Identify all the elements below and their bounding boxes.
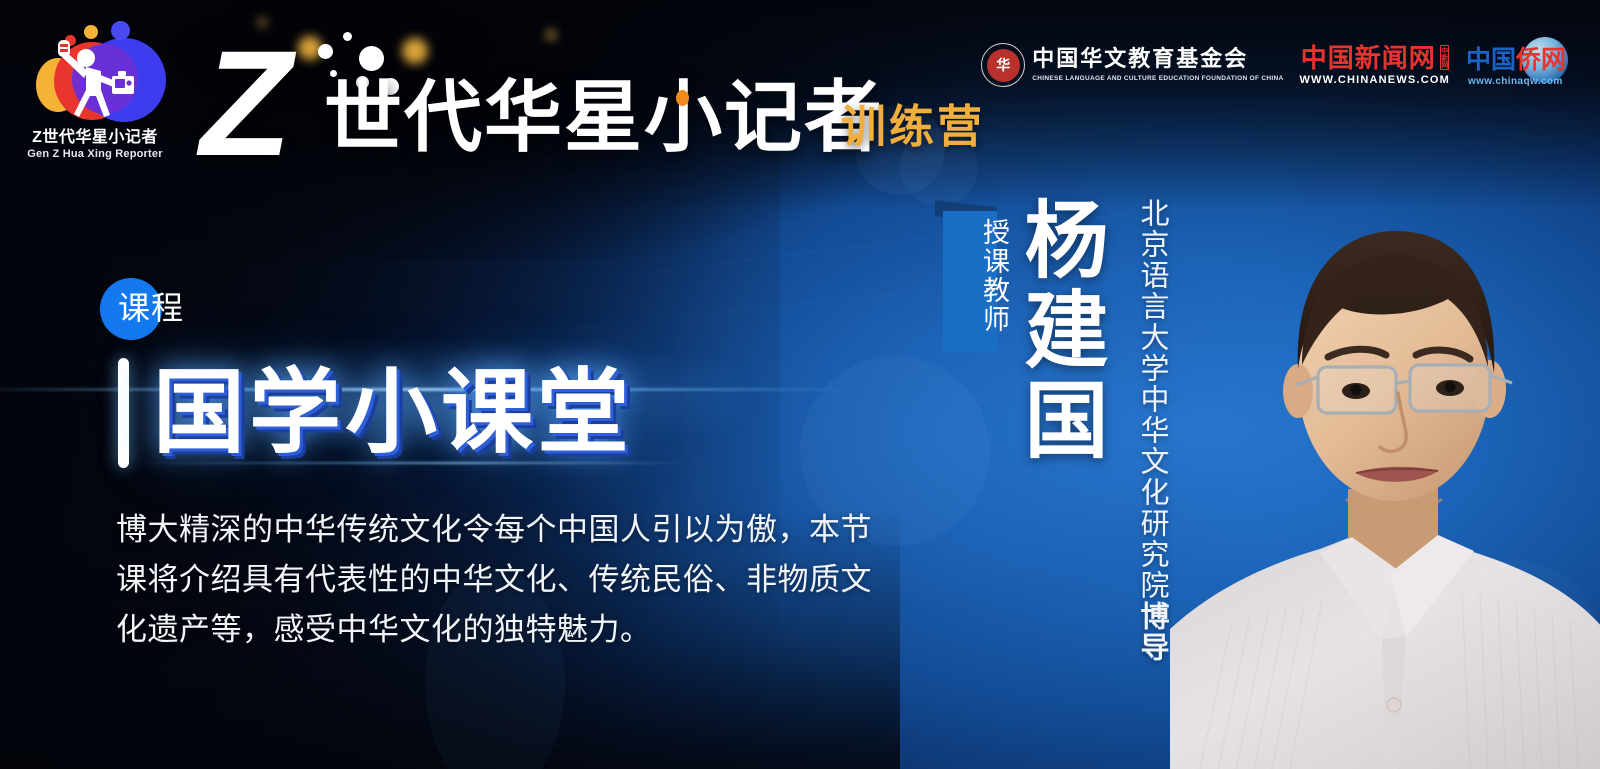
- page-title: Z 世代华星小记者 训练营: [196, 22, 916, 170]
- title-z-letter: Z: [200, 28, 286, 178]
- partner-logo-clcef-text: 中国华文教育基金会 CHINESE LANGUAGE AND CULTURE E…: [1032, 47, 1283, 82]
- title-accent-dot-icon: [676, 90, 689, 106]
- foundation-seal-icon: 华: [981, 43, 1025, 87]
- title-dot: [359, 46, 384, 71]
- brand-name-en: Gen Z Hua Xing Reporter: [22, 148, 168, 162]
- instructor-affiliation: 北京语言大学中华文化研究院: [1136, 198, 1168, 601]
- title-main-cn: 世代华星小记者: [324, 78, 884, 156]
- course-title: 国学小课堂: [153, 367, 633, 459]
- instructor-credentials: 北京语言大学中华文化研究院博导: [1113, 198, 1169, 663]
- partner-logo-chinaqw-row: 中国 侨网: [1466, 48, 1566, 73]
- instructor-ribbon-label: 授课教师: [956, 218, 1010, 334]
- seal-inner-char: 华: [987, 49, 1020, 82]
- instructor-portrait-image: [1170, 169, 1600, 769]
- promo-banner: Z世代华星小记者 Gen Z Hua Xing Reporter Z 世代华星小…: [0, 0, 1600, 769]
- instructor-degree: 博导: [1136, 601, 1168, 663]
- title-dot: [318, 44, 333, 59]
- partner-name-en: CHINESE LANGUAGE AND CULTURE EDUCATION F…: [1032, 74, 1283, 83]
- partner-name-cn-part1: 中国: [1466, 48, 1516, 73]
- instructor-portrait: [1170, 169, 1600, 769]
- course-title-accent-bar: [118, 358, 129, 468]
- partner-logo-chinanews: 中国新闻网 中新网 WWW.CHINANEWS.COM: [1299, 45, 1450, 86]
- partner-url: www.chinaqw.com: [1468, 76, 1563, 87]
- course-description: 博大精深的中华传统文化令每个中国人引以为傲，本节课将介绍具有代表性的中华文化、传…: [116, 505, 896, 656]
- glow-dot: [546, 30, 556, 40]
- title-main-cn-text: 世代华星小记者: [324, 73, 884, 161]
- instructor-name: 杨建国: [1005, 196, 1105, 466]
- partner-logos: 华 中国华文教育基金会 CHINESE LANGUAGE AND CULTURE…: [981, 42, 1578, 88]
- logo-dot-yellow: [84, 25, 98, 39]
- brand-mascot-icon: [22, 16, 168, 126]
- partner-name-cn: 中国华文教育基金会: [1032, 47, 1283, 71]
- partner-tag-cn: 中新网: [1440, 45, 1449, 70]
- title-suffix-cn: 训练营: [841, 104, 985, 149]
- partner-logo-chinanews-row: 中国新闻网 中新网: [1301, 45, 1449, 71]
- partner-url: WWW.CHINANEWS.COM: [1299, 74, 1450, 86]
- reporter-figure-icon: [46, 38, 146, 122]
- brand-name-cn: Z世代华星小记者: [22, 128, 168, 148]
- instructor-ribbon: 授课教师: [943, 200, 997, 352]
- course-badge-label: 课程: [118, 292, 184, 324]
- glow-dot: [402, 38, 428, 64]
- partner-name-cn: 中国新闻网: [1301, 45, 1436, 71]
- brand-logo: Z世代华星小记者 Gen Z Hua Xing Reporter: [22, 16, 168, 164]
- course-title-block: 国学小课堂: [118, 358, 633, 468]
- partner-name-cn-part2: 侨网: [1516, 48, 1566, 73]
- partner-logo-chinaqw: 中国 侨网 www.chinaqw.com: [1466, 42, 1578, 88]
- glow-dot: [258, 18, 267, 27]
- partner-logo-clcef: 华 中国华文教育基金会 CHINESE LANGUAGE AND CULTURE…: [981, 43, 1283, 87]
- title-dot: [343, 32, 352, 41]
